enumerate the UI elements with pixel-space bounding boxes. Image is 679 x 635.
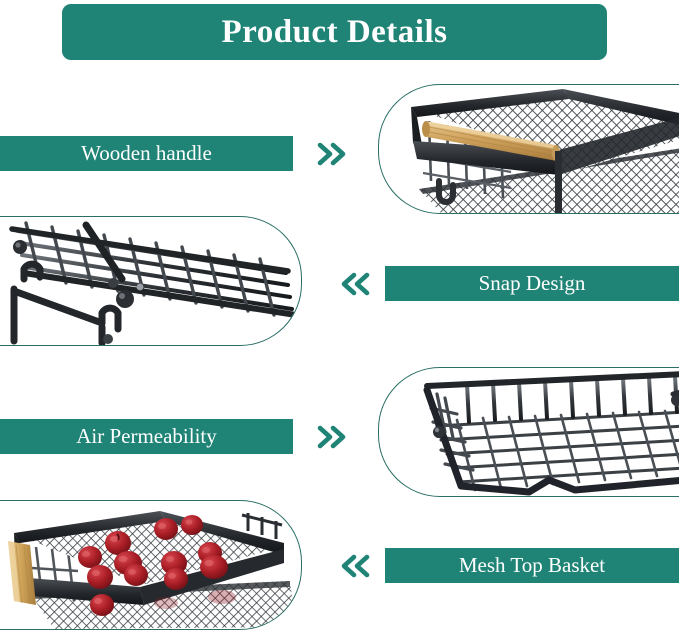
feature-photo-mesh-top-basket xyxy=(0,500,302,630)
feature-photo-air-permeability xyxy=(378,367,679,497)
feature-label-wooden-handle: Wooden handle xyxy=(0,136,293,171)
chevron-double-right-icon xyxy=(316,422,350,452)
feature-label-mesh-top-basket: Mesh Top Basket xyxy=(385,548,679,583)
feature-label-text: Snap Design xyxy=(479,271,586,296)
feature-label-snap-design: Snap Design xyxy=(385,266,679,301)
page-title-banner: Product Details xyxy=(62,4,607,60)
feature-label-text: Air Permeability xyxy=(76,424,217,449)
feature-label-text: Mesh Top Basket xyxy=(459,553,605,578)
chevron-double-left-icon xyxy=(337,551,371,581)
page-title: Product Details xyxy=(222,14,448,51)
chevron-double-left-icon xyxy=(337,269,371,299)
feature-label-text: Wooden handle xyxy=(81,141,212,166)
feature-photo-snap-design xyxy=(0,216,302,346)
feature-label-air-permeability: Air Permeability xyxy=(0,419,293,454)
feature-photo-wooden-handle xyxy=(378,84,679,214)
chevron-double-right-icon xyxy=(316,139,350,169)
